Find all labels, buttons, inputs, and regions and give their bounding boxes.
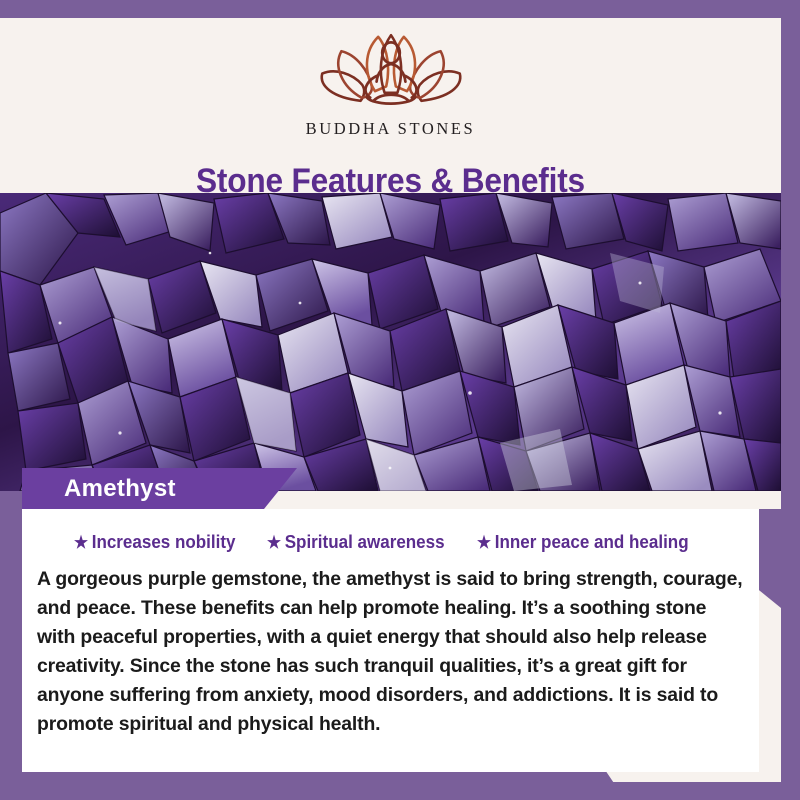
card-header: BUDDHA STONES Stone Features & Benefits: [0, 18, 781, 193]
stone-name-label: Amethyst: [64, 475, 176, 503]
benefit-item-1: ★ Increases nobility: [74, 531, 236, 553]
stone-name-ribbon: Amethyst: [22, 468, 297, 509]
star-icon: ★: [267, 534, 281, 551]
brand-logo: BUDDHA STONES: [0, 24, 781, 139]
brand-name: BUDDHA STONES: [306, 119, 476, 139]
stone-description: A gorgeous purple gemstone, the amethyst…: [37, 565, 749, 739]
benefit-item-2: ★ Spiritual awareness: [267, 531, 445, 553]
card-page: BUDDHA STONES Stone Features & Benefits: [0, 18, 781, 782]
lotus-meditation-icon: [311, 24, 471, 116]
benefit-label: Increases nobility: [92, 531, 236, 553]
bottom-accent-bar: [22, 772, 781, 782]
hero-image: [0, 193, 781, 491]
benefit-label: Inner peace and healing: [494, 531, 688, 553]
star-icon: ★: [74, 534, 88, 551]
benefit-item-3: ★ Inner peace and healing: [477, 531, 689, 553]
benefits-list: ★ Increases nobility ★ Spiritual awarene…: [22, 531, 759, 553]
star-icon: ★: [477, 534, 491, 551]
product-info-card: BUDDHA STONES Stone Features & Benefits: [0, 0, 800, 800]
benefit-label: Spiritual awareness: [284, 531, 444, 553]
stone-details-panel: ★ Increases nobility ★ Spiritual awarene…: [22, 509, 759, 772]
left-accent-rail: [0, 491, 22, 782]
right-accent-tab: [759, 509, 781, 608]
